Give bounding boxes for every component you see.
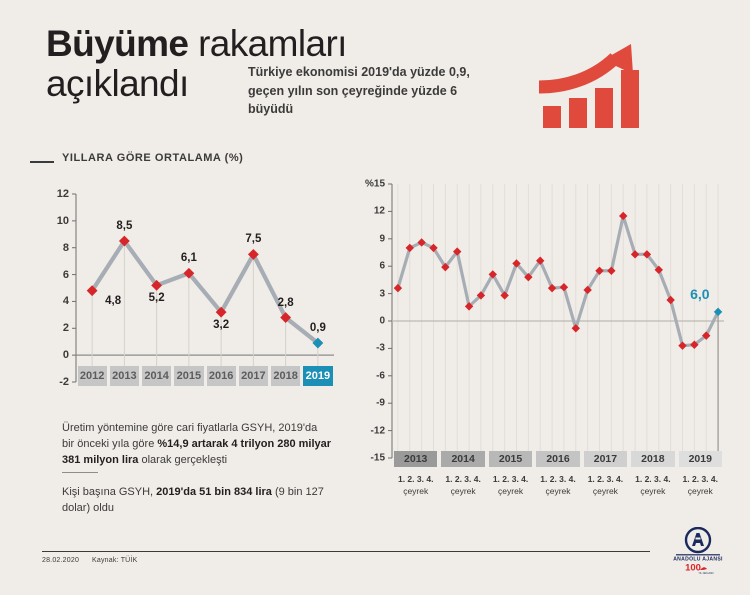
gdp-paragraph-post: olarak gerçekleşti — [138, 454, 227, 466]
footer-source: Kaynak: TÜİK — [92, 557, 137, 564]
right-y-tick-label: 9 — [352, 233, 385, 244]
left-year-chip-2018[interactable]: 2018 — [271, 366, 300, 386]
quarter-group-2013: 1. 2. 3. 4.çeyrek — [392, 474, 439, 496]
left-data-label: 4,8 — [105, 295, 121, 307]
quarter-word: çeyrek — [629, 486, 676, 496]
yearly-average-year-axis: 20122013201420152016201720182019 — [42, 366, 342, 388]
right-y-tick-label: -9 — [352, 398, 385, 409]
right-year-chip-2016[interactable]: 2016 — [536, 451, 579, 467]
left-year-chip-2015[interactable]: 2015 — [174, 366, 203, 386]
quarter-numbers: 1. 2. 3. 4. — [487, 474, 534, 484]
right-data-point — [666, 296, 674, 304]
right-year-chip-2017[interactable]: 2017 — [584, 451, 627, 467]
right-y-tick-label: %15 — [352, 179, 385, 190]
left-y-tick-label: 0 — [42, 349, 69, 361]
quarter-word: çeyrek — [534, 486, 581, 496]
left-y-tick-label: 6 — [42, 269, 69, 281]
left-data-label: 6,1 — [174, 252, 204, 264]
quarterly-year-axis: 2013201420152016201720182019 — [352, 451, 730, 469]
section-dash — [30, 161, 54, 163]
right-year-chip-2019[interactable]: 2019 — [679, 451, 722, 467]
quarter-numbers: 1. 2. 3. 4. — [392, 474, 439, 484]
right-last-data-label: 6,0 — [690, 286, 709, 302]
quarter-word: çeyrek — [582, 486, 629, 496]
right-series-line — [398, 216, 718, 346]
left-series-line — [92, 241, 318, 343]
svg-text:YIL 1920-2020: YIL 1920-2020 — [699, 573, 715, 575]
per-capita-pre: Kişi başına GSYH, — [62, 486, 156, 498]
quarterly-growth-plot — [352, 174, 730, 462]
right-data-point — [678, 341, 686, 349]
quarter-group-2017: 1. 2. 3. 4.çeyrek — [582, 474, 629, 496]
quarter-numbers: 1. 2. 3. 4. — [534, 474, 581, 484]
quarter-word: çeyrek — [487, 486, 534, 496]
right-y-tick-label: 3 — [352, 288, 385, 299]
anadolu-ajansi-logo: ANADOLU AJANSI 100 YIL 1920-2020 — [662, 527, 734, 575]
yearly-average-plot — [42, 186, 342, 396]
left-y-tick-label: 2 — [42, 322, 69, 334]
title-strong: Büyüme — [46, 23, 188, 64]
infographic-canvas: Büyüme rakamları açıklandı Türkiye ekono… — [0, 0, 750, 595]
growth-arrow-icon — [535, 42, 655, 130]
left-year-chip-2019[interactable]: 2019 — [303, 366, 332, 386]
gdp-paragraph: Üretim yöntemine göre cari fiyatlarla GS… — [62, 420, 332, 468]
right-year-chip-2015[interactable]: 2015 — [489, 451, 532, 467]
right-data-point — [607, 267, 615, 275]
quarter-word: çeyrek — [439, 486, 486, 496]
right-year-chip-2018[interactable]: 2018 — [631, 451, 674, 467]
per-capita-paragraph: Kişi başına GSYH, 2019'da 51 bin 834 lir… — [62, 484, 332, 516]
right-y-tick-label: 6 — [352, 261, 385, 272]
quarter-word: çeyrek — [677, 486, 724, 496]
left-y-tick-label: 4 — [42, 295, 69, 307]
quarter-numbers: 1. 2. 3. 4. — [582, 474, 629, 484]
quarter-group-2018: 1. 2. 3. 4.çeyrek — [629, 474, 676, 496]
right-y-tick-label: 12 — [352, 206, 385, 217]
title-rest: rakamları — [188, 23, 346, 64]
right-data-point — [631, 250, 639, 258]
left-data-label: 0,9 — [303, 322, 333, 334]
right-y-tick-label: 0 — [352, 316, 385, 327]
quarterly-quarter-axis: 1. 2. 3. 4.çeyrek1. 2. 3. 4.çeyrek1. 2. … — [352, 474, 730, 506]
left-y-tick-label: 10 — [42, 215, 69, 227]
right-year-chip-2013[interactable]: 2013 — [394, 451, 437, 467]
left-data-label: 3,2 — [206, 319, 236, 331]
per-capita-bold: 2019'da 51 bin 834 lira — [156, 486, 272, 498]
title-line-1: Büyüme rakamları — [46, 24, 466, 64]
left-year-chip-2016[interactable]: 2016 — [207, 366, 236, 386]
quarter-group-2014: 1. 2. 3. 4.çeyrek — [439, 474, 486, 496]
right-data-point — [394, 284, 402, 292]
quarter-numbers: 1. 2. 3. 4. — [439, 474, 486, 484]
section-label: YILLARA GÖRE ORTALAMA (%) — [62, 152, 243, 164]
right-data-point — [619, 212, 627, 220]
right-y-tick-label: -12 — [352, 425, 385, 436]
svg-text:ANADOLU AJANSI: ANADOLU AJANSI — [673, 556, 723, 562]
left-year-chip-2014[interactable]: 2014 — [142, 366, 171, 386]
quarter-group-2019: 1. 2. 3. 4.çeyrek — [677, 474, 724, 496]
footer-divider — [42, 551, 650, 552]
left-y-tick-label: 8 — [42, 242, 69, 254]
quarter-numbers: 1. 2. 3. 4. — [629, 474, 676, 484]
footer-date: 28.02.2020 — [42, 557, 79, 564]
right-data-point — [572, 324, 580, 332]
right-year-chip-2014[interactable]: 2014 — [441, 451, 484, 467]
quarter-group-2015: 1. 2. 3. 4.çeyrek — [487, 474, 534, 496]
quarter-word: çeyrek — [392, 486, 439, 496]
left-data-label: 5,2 — [142, 292, 172, 304]
left-data-label: 7,5 — [238, 233, 268, 245]
right-y-tick-label: -6 — [352, 370, 385, 381]
right-y-tick-label: -3 — [352, 343, 385, 354]
header: Büyüme rakamları açıklandı Türkiye ekono… — [0, 0, 750, 140]
quarter-numbers: 1. 2. 3. 4. — [677, 474, 724, 484]
quarterly-growth-chart: %15129630-3-6-9-12-156,0 — [352, 174, 730, 462]
left-year-chip-2017[interactable]: 2017 — [239, 366, 268, 386]
right-data-point — [560, 283, 568, 291]
text-divider — [62, 472, 98, 473]
left-year-chip-2013[interactable]: 2013 — [110, 366, 139, 386]
left-data-label: 2,8 — [271, 297, 301, 309]
yearly-average-chart: 121086420-24,88,55,26,13,27,52,80,9 — [42, 186, 342, 396]
left-y-tick-label: 12 — [42, 188, 69, 200]
subtitle: Türkiye ekonomisi 2019'da yüzde 0,9, geç… — [248, 63, 473, 119]
left-year-chip-2012[interactable]: 2012 — [78, 366, 107, 386]
quarter-group-2016: 1. 2. 3. 4.çeyrek — [534, 474, 581, 496]
left-data-label: 8,5 — [109, 220, 139, 232]
